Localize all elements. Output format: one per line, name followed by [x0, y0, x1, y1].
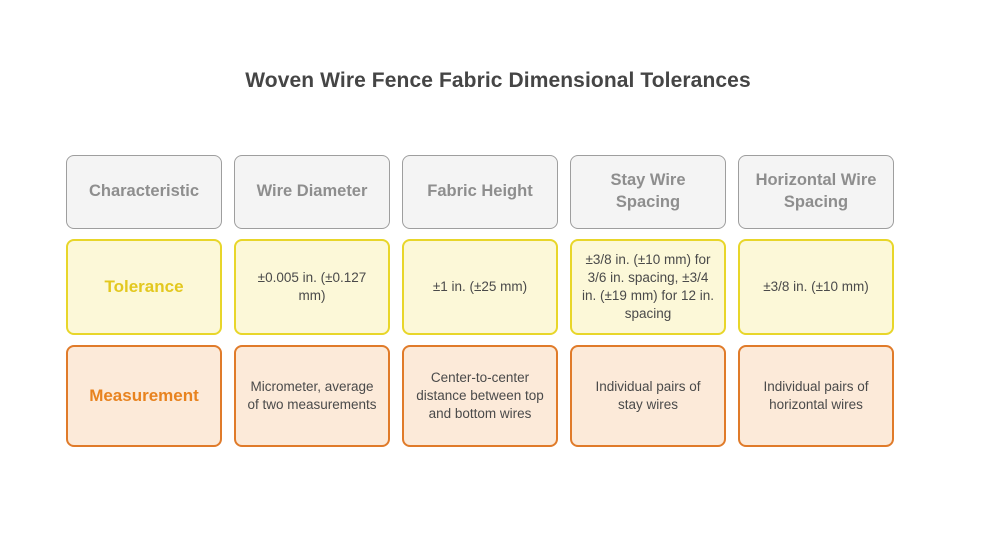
cell-measurement-stay-wire-spacing-text: Individual pairs of stay wires	[582, 378, 714, 414]
row-label-tolerance: Tolerance	[66, 239, 222, 335]
row-label-tolerance-text: Tolerance	[104, 276, 183, 298]
header-label-fabric-height: Fabric Height	[427, 181, 532, 203]
cell-measurement-fabric-height-text: Center-to-center distance between top an…	[414, 369, 546, 422]
page-title: Woven Wire Fence Fabric Dimensional Tole…	[0, 69, 996, 93]
table-row: Tolerance ±0.005 in. (±0.127 mm) ±1 in. …	[66, 239, 930, 335]
cell-measurement-wire-diameter-text: Micrometer, average of two measurements	[246, 378, 378, 414]
cell-tolerance-stay-wire-spacing-text: ±3/8 in. (±10 mm) for 3/6 in. spacing, ±…	[582, 251, 714, 322]
header-cell-stay-wire-spacing: Stay Wire Spacing	[570, 155, 726, 229]
header-label-characteristic: Characteristic	[89, 181, 199, 203]
cell-measurement-stay-wire-spacing: Individual pairs of stay wires	[570, 345, 726, 447]
cell-measurement-horizontal-wire-spacing: Individual pairs of horizontal wires	[738, 345, 894, 447]
cell-measurement-fabric-height: Center-to-center distance between top an…	[402, 345, 558, 447]
header-cell-characteristic: Characteristic	[66, 155, 222, 229]
cell-measurement-horizontal-wire-spacing-text: Individual pairs of horizontal wires	[750, 378, 882, 414]
header-cell-fabric-height: Fabric Height	[402, 155, 558, 229]
row-label-measurement: Measurement	[66, 345, 222, 447]
header-label-wire-diameter: Wire Diameter	[257, 181, 368, 203]
table-figure-canvas: Woven Wire Fence Fabric Dimensional Tole…	[0, 0, 996, 534]
cell-tolerance-stay-wire-spacing: ±3/8 in. (±10 mm) for 3/6 in. spacing, ±…	[570, 239, 726, 335]
header-label-horizontal-wire-spacing: Horizontal Wire Spacing	[749, 170, 883, 214]
cell-measurement-wire-diameter: Micrometer, average of two measurements	[234, 345, 390, 447]
table-header-row: Characteristic Wire Diameter Fabric Heig…	[66, 155, 930, 229]
table-row: Measurement Micrometer, average of two m…	[66, 345, 930, 447]
cell-tolerance-horizontal-wire-spacing-text: ±3/8 in. (±10 mm)	[763, 278, 869, 296]
header-cell-horizontal-wire-spacing: Horizontal Wire Spacing	[738, 155, 894, 229]
cell-tolerance-wire-diameter-text: ±0.005 in. (±0.127 mm)	[246, 269, 378, 305]
tolerance-table: Characteristic Wire Diameter Fabric Heig…	[66, 155, 930, 447]
cell-tolerance-wire-diameter: ±0.005 in. (±0.127 mm)	[234, 239, 390, 335]
cell-tolerance-fabric-height: ±1 in. (±25 mm)	[402, 239, 558, 335]
header-label-stay-wire-spacing: Stay Wire Spacing	[581, 170, 715, 214]
cell-tolerance-horizontal-wire-spacing: ±3/8 in. (±10 mm)	[738, 239, 894, 335]
row-label-measurement-text: Measurement	[89, 385, 199, 407]
cell-tolerance-fabric-height-text: ±1 in. (±25 mm)	[433, 278, 527, 296]
header-cell-wire-diameter: Wire Diameter	[234, 155, 390, 229]
